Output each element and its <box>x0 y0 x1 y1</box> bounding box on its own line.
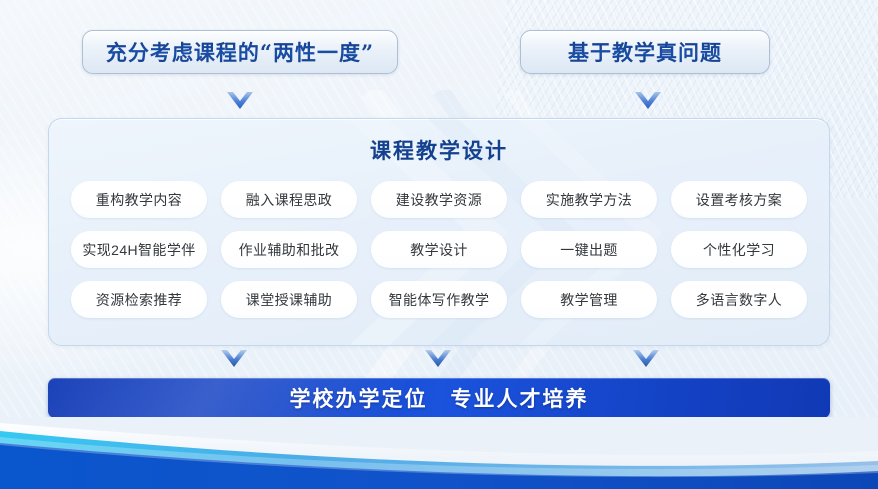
header-box-2[interactable]: 基于教学真问题 <box>520 30 770 74</box>
capability-card[interactable]: 实施教学方法 <box>521 181 657 218</box>
capability-card[interactable]: 多语言数字人 <box>671 281 807 318</box>
capability-card[interactable]: 一键出题 <box>521 231 657 268</box>
header-box-1[interactable]: 充分考虑课程的“两性一度” <box>82 30 398 74</box>
capability-card[interactable]: 设置考核方案 <box>671 181 807 218</box>
capability-card[interactable]: 智能体写作教学 <box>371 281 507 318</box>
capability-card[interactable]: 作业辅助和批改 <box>221 231 357 268</box>
capability-card[interactable]: 资源检索推荐 <box>71 281 207 318</box>
bottom-banner[interactable]: 学校办学定位 专业人才培养 <box>48 378 830 418</box>
chevron-down-icon <box>225 90 255 112</box>
bottom-wave-decoration <box>0 417 878 489</box>
capability-card[interactable]: 个性化学习 <box>671 231 807 268</box>
capability-grid: 重构教学内容 融入课程思政 建设教学资源 实施教学方法 设置考核方案 实现24H… <box>49 181 829 318</box>
capability-card[interactable]: 课堂授课辅助 <box>221 281 357 318</box>
chevron-down-icon <box>219 348 249 370</box>
header-box-2-label: 基于教学真问题 <box>568 37 722 67</box>
capability-card[interactable]: 实现24H智能学伴 <box>71 231 207 268</box>
capability-card[interactable]: 教学设计 <box>371 231 507 268</box>
capability-card[interactable]: 建设教学资源 <box>371 181 507 218</box>
capability-card[interactable]: 重构教学内容 <box>71 181 207 218</box>
bottom-banner-label: 学校办学定位 专业人才培养 <box>290 383 589 413</box>
header-box-1-label: 充分考虑课程的“两性一度” <box>106 37 374 67</box>
capability-card[interactable]: 教学管理 <box>521 281 657 318</box>
panel-title: 课程教学设计 <box>49 135 829 165</box>
capability-card[interactable]: 融入课程思政 <box>221 181 357 218</box>
chevron-down-icon <box>423 348 453 370</box>
header-row: 充分考虑课程的“两性一度” 基于教学真问题 <box>0 0 878 120</box>
chevron-down-icon <box>631 348 661 370</box>
chevron-down-icon <box>633 90 663 112</box>
course-design-panel: 课程教学设计 重构教学内容 融入课程思政 建设教学资源 实施教学方法 设置考核方… <box>48 118 830 346</box>
